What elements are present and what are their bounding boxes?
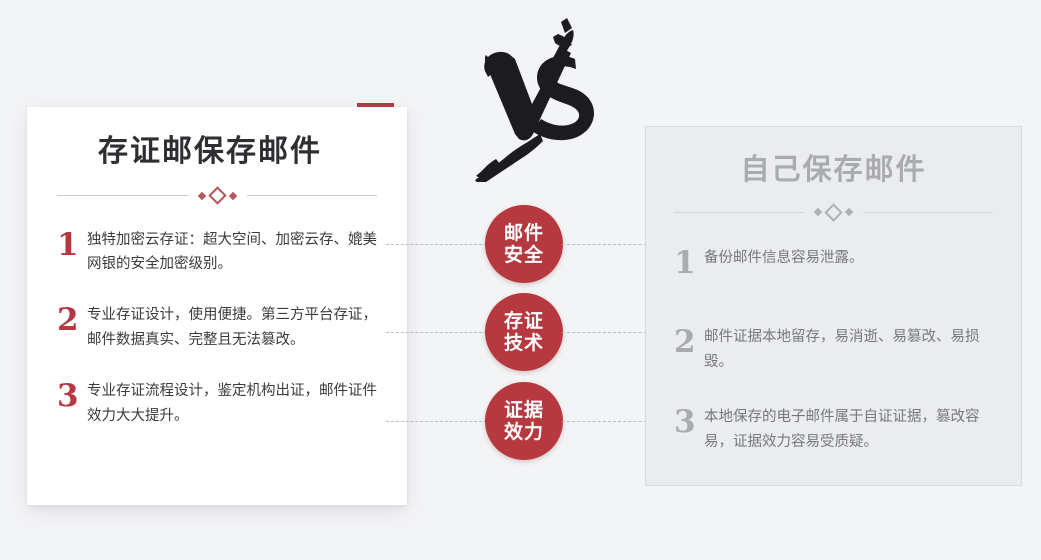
infographic-canvas: 存证邮保存邮件 1 独特加密云存证：超大空间、加密云存、媲美网银的安全加密级别。… [0,0,1041,560]
circle-label-line2: 安全 [504,244,544,266]
diamond-large-icon [824,203,842,221]
list-item-text: 备份邮件信息容易泄露。 [704,246,993,271]
center-circle-evidence-power: 证据 效力 [485,382,563,460]
diamond-small-icon [814,208,822,216]
left-card-title: 存证邮保存邮件 [57,135,377,170]
right-card-list: 1 备份邮件信息容易泄露。 2 邮件证据本地留存，易消逝、易篡改、易损毁。 3 … [674,246,993,455]
right-card-body: 自己保存邮件 1 备份邮件信息容易泄露。 2 邮件证据本地留存，易消逝、易篡改 [646,127,1021,485]
diamond-small-icon [197,191,205,199]
diamond-small-icon [845,208,853,216]
right-card-divider [674,204,993,220]
divider-rule-right [247,195,378,196]
center-circle-mail-security: 邮件 安全 [485,205,563,283]
divider-rule-left [674,212,804,213]
left-card: 存证邮保存邮件 1 独特加密云存证：超大空间、加密云存、媲美网银的安全加密级别。… [27,107,407,505]
connector-left-2 [386,332,487,333]
list-item: 3 本地保存的电子邮件属于自证证据，篡改容易，证据效力容易受质疑。 [674,405,993,455]
list-item-number: 2 [674,325,704,358]
list-item: 3 专业存证流程设计，鉴定机构出证，邮件证件效力大大提升。 [57,379,377,429]
right-card-title: 自己保存邮件 [674,153,993,186]
list-item-text: 本地保存的电子邮件属于自证证据，篡改容易，证据效力容易受质疑。 [704,405,993,455]
list-item-text: 专业存证流程设计，鉴定机构出证，邮件证件效力大大提升。 [87,379,377,429]
vs-brush-mark-icon [466,12,596,182]
divider-diamond-group [199,189,236,202]
diamond-large-icon [208,186,226,204]
list-item-number: 2 [57,303,87,336]
list-item: 2 专业存证设计，使用便捷。第三方平台存证，邮件数据真实、完整且无法篡改。 [57,303,377,353]
left-card-divider [57,188,377,204]
list-item-text: 专业存证设计，使用便捷。第三方平台存证，邮件数据真实、完整且无法篡改。 [87,303,377,353]
circle-label-line1: 存证 [504,310,544,332]
list-item: 2 邮件证据本地留存，易消逝、易篡改、易损毁。 [674,325,993,375]
divider-rule-right [863,212,993,213]
connector-left-1 [386,244,487,245]
connector-left-3 [386,421,487,422]
list-item: 1 独特加密云存证：超大空间、加密云存、媲美网银的安全加密级别。 [57,228,377,278]
left-card-list: 1 独特加密云存证：超大空间、加密云存、媲美网银的安全加密级别。 2 专业存证设… [57,228,377,430]
circle-label-line2: 技术 [504,332,544,354]
list-item-number: 3 [57,379,87,412]
left-card-body: 存证邮保存邮件 1 独特加密云存证：超大空间、加密云存、媲美网银的安全加密级别。… [27,107,407,505]
diamond-small-icon [228,191,236,199]
list-item-text: 独特加密云存证：超大空间、加密云存、媲美网银的安全加密级别。 [87,228,377,278]
circle-label-line2: 效力 [504,421,544,443]
circle-label-line1: 证据 [504,399,544,421]
list-item-number: 3 [674,405,704,438]
list-item-number: 1 [57,228,87,261]
center-circle-evidence-tech: 存证 技术 [485,293,563,371]
right-card: 自己保存邮件 1 备份邮件信息容易泄露。 2 邮件证据本地留存，易消逝、易篡改 [645,126,1022,486]
divider-diamond-group [815,206,852,219]
list-item-text: 邮件证据本地留存，易消逝、易篡改、易损毁。 [704,325,993,375]
divider-rule-left [57,195,188,196]
circle-label-line1: 邮件 [504,222,544,244]
list-item: 1 备份邮件信息容易泄露。 [674,246,993,279]
list-item-number: 1 [674,246,704,279]
